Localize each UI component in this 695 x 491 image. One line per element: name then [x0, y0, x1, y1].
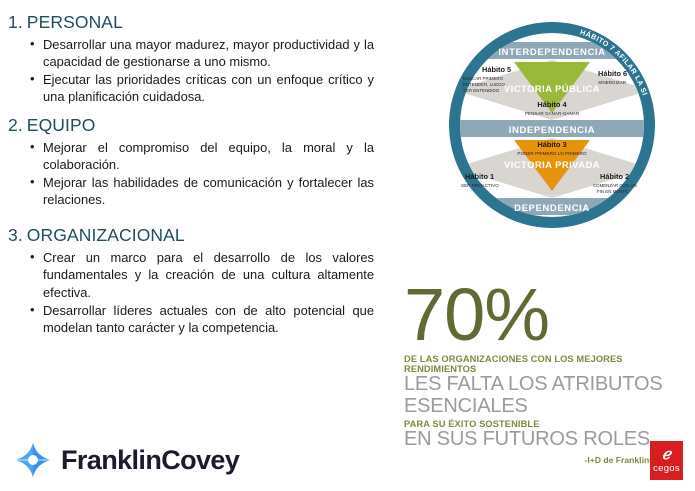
bullet-item: Desarrollar una mayor madurez, mayor pro… [30, 36, 374, 70]
statistic-number: 70% [404, 281, 689, 349]
statistic-headline-1: LES FALTA LOS ATRIBUTOS [404, 374, 689, 396]
section-title: ORGANIZACIONAL [27, 225, 185, 245]
section-equipo: 2.EQUIPO Mejorar el compromiso del equip… [8, 115, 380, 209]
habito-1-desc: SER PROACTIVO [461, 183, 499, 188]
seven-habits-diagram: INTERDEPENDENCIA INDEPENDENCIA DEPENDENC… [421, 16, 683, 235]
section-title: EQUIPO [27, 115, 96, 135]
statistic-attribution: -I+D de FranklinCovey [404, 455, 689, 465]
bullet-list: Crear un marco para el desarrollo de los… [8, 249, 380, 336]
section-organizacional: 3.ORGANIZACIONAL Crear un marco para el … [8, 225, 380, 336]
bullet-item: Ejecutar las prioridades críticas con un… [30, 71, 374, 105]
franklincovey-wordmark: FranklinCovey [61, 445, 239, 476]
section-heading: 1.PERSONAL [8, 12, 380, 33]
bullet-item: Desarrollar líderes actuales con de alto… [30, 302, 374, 336]
public-victory-label: VICTORIA PÚBLICA [504, 83, 600, 95]
habito-4-desc: PENSAR GANAR-GANAR [525, 111, 580, 116]
habito-3-desc: PONER PRIMERO LO PRIMERO [517, 151, 587, 156]
band-label-interdependencia: INTERDEPENDENCIA [498, 47, 605, 58]
cegos-figure-icon: ℯ [662, 447, 671, 462]
private-victory-label: VICTORIA PRIVADA [504, 160, 600, 171]
habito-6-name: Hábito 6 [598, 69, 627, 78]
section-heading: 2.EQUIPO [8, 115, 380, 136]
bullet-item: Mejorar el compromiso del equipo, la mor… [30, 139, 374, 173]
section-number: 2. [8, 115, 23, 135]
habito-6-desc: SINERGIZAR [598, 80, 627, 85]
statistic-headline-2: ESENCIALES [404, 396, 689, 418]
habito-4-name: Hábito 4 [537, 100, 567, 109]
statistic-block: 70% DE LAS ORGANIZACIONES CON LOS MEJORE… [404, 281, 689, 465]
bullet-item: Crear un marco para el desarrollo de los… [30, 249, 374, 300]
bullet-item: Mejorar las habilidades de comunicación … [30, 174, 374, 208]
cegos-wordmark: cegos [653, 464, 680, 474]
habito-5-name: Hábito 5 [482, 65, 511, 74]
franklincovey-compass-icon [14, 441, 52, 479]
statistic-headline-3: EN SUS FUTUROS ROLES. [404, 429, 689, 451]
section-number: 1. [8, 12, 23, 32]
cegos-logo: ℯ cegos [650, 441, 683, 480]
section-personal: 1.PERSONAL Desarrollar una mayor madurez… [8, 12, 380, 106]
slide-canvas: 1.PERSONAL Desarrollar una mayor madurez… [0, 0, 695, 491]
statistic-caption-1: DE LAS ORGANIZACIONES CON LOS MEJORES RE… [404, 354, 689, 374]
habito-3-name: Hábito 3 [537, 140, 566, 149]
bullet-list: Desarrollar una mayor madurez, mayor pro… [8, 36, 380, 106]
content-column: 1.PERSONAL Desarrollar una mayor madurez… [8, 12, 380, 345]
band-label-independencia: INDEPENDENCIA [509, 125, 595, 136]
bullet-list: Mejorar el compromiso del equipo, la mor… [8, 139, 380, 209]
section-heading: 3.ORGANIZACIONAL [8, 225, 380, 246]
habito-1-name: Hábito 1 [465, 172, 494, 181]
section-title: PERSONAL [27, 12, 123, 32]
band-label-dependencia: DEPENDENCIA [514, 203, 590, 214]
franklincovey-logo: FranklinCovey [14, 441, 239, 479]
section-number: 3. [8, 225, 23, 245]
habito-2-name: Hábito 2 [600, 172, 629, 181]
